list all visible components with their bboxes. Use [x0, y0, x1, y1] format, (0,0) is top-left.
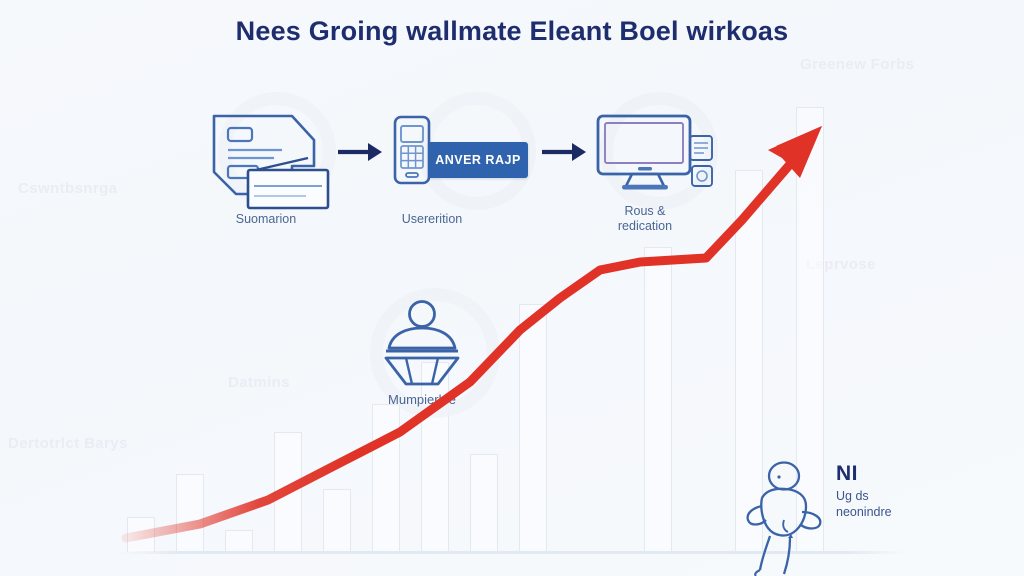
person-at-desk-icon — [362, 298, 482, 388]
roi-person-icon — [736, 458, 832, 576]
app-badge[interactable]: ANVER RAJP — [428, 142, 528, 178]
chart-bar — [644, 247, 672, 552]
center-feature-label: Mumpierloe — [356, 392, 488, 407]
chart-bar — [470, 454, 498, 552]
process-step-1[interactable]: Suomarion — [196, 110, 336, 210]
process-step-3-label: Rous & redication — [580, 204, 710, 234]
process-step-3[interactable]: Rous & redication — [594, 112, 698, 192]
desktop-monitor-icon — [594, 112, 698, 192]
roi-note-title: NI — [836, 462, 892, 485]
process-arrow-2-icon — [540, 138, 588, 166]
process-arrow-1-icon — [336, 138, 384, 166]
chart-bar — [323, 489, 351, 552]
document-form-icon — [196, 110, 336, 210]
mobile-phone-icon — [392, 114, 432, 186]
roi-note: NI Ug ds neonindre — [836, 462, 892, 520]
process-step-1-label: Suomarion — [196, 212, 336, 227]
chart-bar — [176, 474, 204, 552]
chart-bar — [519, 304, 547, 552]
small-device-icons — [686, 134, 720, 190]
process-step-2-label: Usererition — [364, 212, 500, 227]
chart-bar — [372, 404, 400, 552]
roi-note-subtitle: Ug ds neonindre — [836, 488, 892, 520]
center-feature[interactable]: Mumpierloe — [362, 298, 482, 388]
page-title: Nees Groing wallmate Eleant Boel wirkoas — [0, 16, 1024, 47]
chart-bar — [274, 432, 302, 552]
infographic-canvas: Greenew ForbsCswntbsnrgaLeprvoseDatminsD… — [0, 0, 1024, 576]
process-step-2[interactable]: Usererition — [392, 114, 432, 186]
chart-bar — [225, 530, 253, 552]
app-badge-label: ANVER RAJP — [435, 153, 521, 167]
chart-bar — [127, 517, 155, 552]
